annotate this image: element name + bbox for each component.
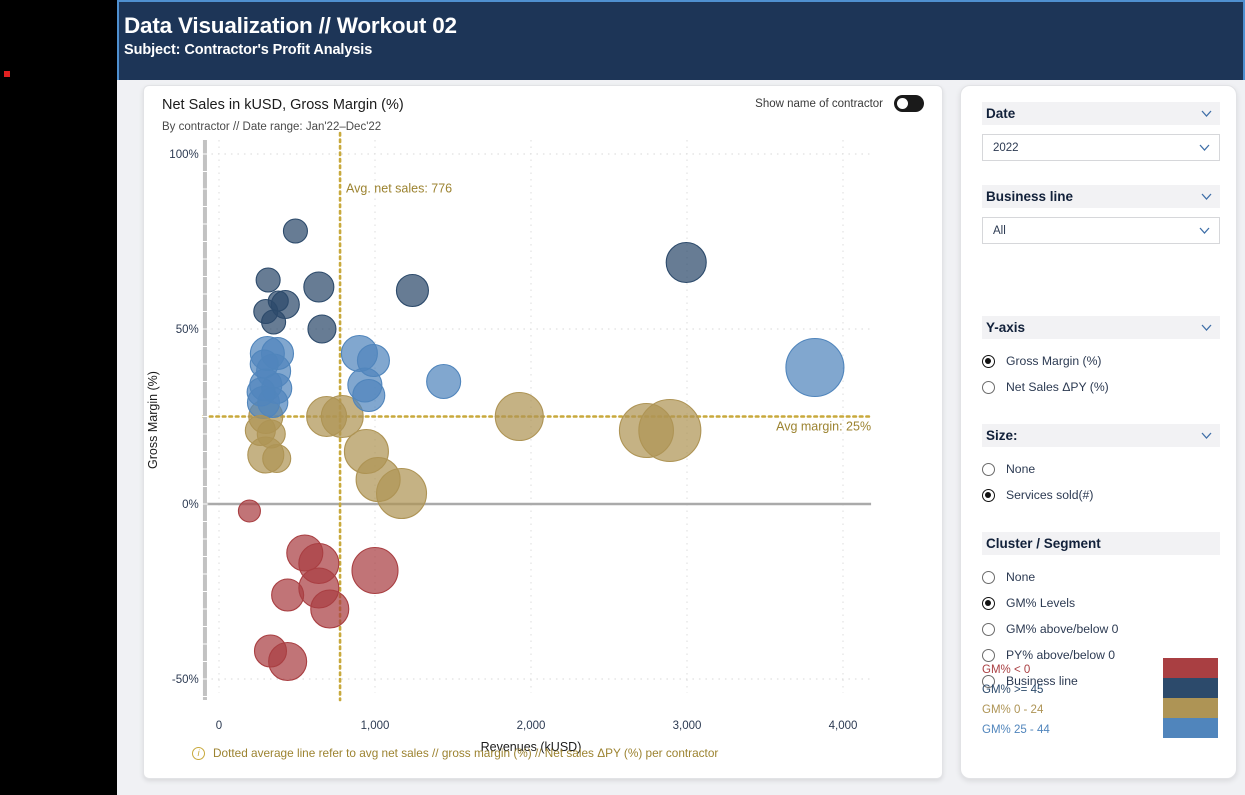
bubble-point[interactable] — [427, 365, 461, 399]
bubble-point[interactable] — [353, 380, 385, 412]
date-section-label: Date — [986, 106, 1015, 121]
chart-footnote-text: Dotted average line refer to avg net sal… — [213, 746, 718, 760]
bubble-point[interactable] — [308, 315, 336, 343]
radio-icon[interactable] — [982, 381, 995, 394]
bubble-point[interactable] — [238, 500, 260, 522]
bubble-point[interactable] — [263, 445, 291, 473]
bubble-point[interactable] — [666, 243, 706, 283]
business-line-dropdown[interactable]: All — [982, 217, 1220, 244]
y-axis-option-label: Net Sales ΔPY (%) — [1006, 380, 1109, 394]
screen-root: Data Visualization // Workout 02 Subject… — [0, 0, 1245, 795]
application-window: Data Visualization // Workout 02 Subject… — [117, 0, 1245, 795]
chart-footnote: i Dotted average line refer to avg net s… — [192, 746, 718, 760]
chart-card: Net Sales in kUSD, Gross Margin (%) By c… — [143, 85, 943, 779]
avg-net-sales-annotation: Avg. net sales: 776 — [346, 182, 452, 196]
bubble-point[interactable] — [254, 635, 286, 667]
page-title: Data Visualization // Workout 02 — [124, 12, 1243, 40]
bubble-point[interactable] — [283, 219, 307, 243]
radio-icon[interactable] — [982, 489, 995, 502]
y-axis-tick-label: 100% — [169, 149, 198, 161]
bubble-point[interactable] — [272, 579, 304, 611]
cluster-option-none[interactable]: None — [982, 564, 1220, 590]
scatter-plot-svg[interactable]: -50%0%50%100%01,0002,0003,0004,000Revenu… — [144, 86, 944, 780]
red-marker-dot — [4, 71, 10, 77]
size-option-label: Services sold(#) — [1006, 488, 1093, 502]
bubble-point[interactable] — [268, 291, 288, 311]
radio-icon[interactable] — [982, 571, 995, 584]
page-subtitle: Subject: Contractor's Profit Analysis — [124, 40, 1243, 60]
x-axis-tick-label: 1,000 — [361, 720, 390, 732]
cluster-option-label: GM% above/below 0 — [1006, 622, 1118, 636]
bubble-point[interactable] — [495, 393, 543, 441]
scatter-plot[interactable]: -50%0%50%100%01,0002,0003,0004,000Revenu… — [144, 86, 944, 780]
legend-swatch-list — [1163, 658, 1218, 738]
bubble-point[interactable] — [304, 272, 334, 302]
controls-panel: Date 2022 Business line All — [960, 85, 1237, 779]
bubble-point[interactable] — [307, 397, 347, 437]
cluster-section-header: Cluster / Segment — [982, 532, 1220, 555]
cluster-option-gm-above-below-0[interactable]: GM% above/below 0 — [982, 616, 1220, 642]
y-axis-tick-label: -50% — [172, 674, 199, 686]
size-option-label: None — [1006, 462, 1035, 476]
radio-icon[interactable] — [982, 355, 995, 368]
date-dropdown-value: 2022 — [993, 142, 1019, 154]
y-axis-section-label: Y-axis — [986, 320, 1025, 335]
color-legend: GM% < 0 GM% >= 45 GM% 0 - 24 GM% 25 - 44 — [982, 658, 1218, 740]
panel-spacer — [982, 292, 1220, 316]
info-icon: i — [192, 747, 205, 760]
legend-swatch-gm-below-0 — [1163, 658, 1218, 678]
bubble-point[interactable] — [250, 350, 278, 378]
radio-icon[interactable] — [982, 463, 995, 476]
bubble-point[interactable] — [257, 420, 285, 448]
y-axis-tick-label: 0% — [182, 499, 199, 511]
radio-icon[interactable] — [982, 597, 995, 610]
chevron-down-icon[interactable] — [1201, 110, 1212, 117]
y-axis-tick-label: 50% — [176, 324, 199, 336]
bubble-point[interactable] — [262, 310, 286, 334]
size-section-header[interactable]: Size: — [982, 424, 1220, 447]
radio-icon[interactable] — [982, 623, 995, 636]
x-axis-tick-label: 4,000 — [829, 720, 858, 732]
legend-label: GM% 25 - 44 — [982, 720, 1163, 740]
app-header: Data Visualization // Workout 02 Subject… — [117, 0, 1245, 80]
size-option-none[interactable]: None — [982, 456, 1220, 482]
bubble-point[interactable] — [356, 458, 400, 502]
legend-label-list: GM% < 0 GM% >= 45 GM% 0 - 24 GM% 25 - 44 — [982, 658, 1163, 740]
y-axis-title: Gross Margin (%) — [146, 371, 160, 469]
y-axis-option-net-sales-dpy[interactable]: Net Sales ΔPY (%) — [982, 374, 1220, 400]
size-option-services-sold[interactable]: Services sold(#) — [982, 482, 1220, 508]
chevron-down-icon[interactable] — [1201, 432, 1212, 439]
date-section-header[interactable]: Date — [982, 102, 1220, 125]
cluster-section-label: Cluster / Segment — [986, 536, 1101, 551]
bubble-point[interactable] — [357, 345, 389, 377]
legend-swatch-gm-45-plus — [1163, 678, 1218, 698]
x-axis-tick-label: 2,000 — [517, 720, 546, 732]
chevron-down-icon[interactable] — [1199, 227, 1210, 234]
panel-spacer — [982, 268, 1220, 292]
legend-swatch-gm-0-24 — [1163, 698, 1218, 718]
business-line-dropdown-value: All — [993, 225, 1006, 237]
bubble-point[interactable] — [256, 268, 280, 292]
bubble-point[interactable] — [619, 404, 673, 458]
bubble-point[interactable] — [247, 378, 275, 406]
legend-swatch-gm-25-44 — [1163, 718, 1218, 738]
business-line-section-label: Business line — [986, 189, 1073, 204]
legend-label: GM% >= 45 — [982, 680, 1163, 700]
y-axis-option-gross-margin[interactable]: Gross Margin (%) — [982, 348, 1220, 374]
cluster-option-label: None — [1006, 570, 1035, 584]
business-line-section-header[interactable]: Business line — [982, 185, 1220, 208]
x-axis-tick-label: 0 — [216, 720, 222, 732]
size-section-label: Size: — [986, 428, 1018, 443]
bubble-point[interactable] — [311, 590, 349, 628]
y-axis-option-label: Gross Margin (%) — [1006, 354, 1101, 368]
bubble-point[interactable] — [352, 548, 398, 594]
avg-margin-annotation: Avg margin: 25% — [776, 420, 871, 434]
cluster-option-gm-levels[interactable]: GM% Levels — [982, 590, 1220, 616]
date-dropdown[interactable]: 2022 — [982, 134, 1220, 161]
cluster-option-label: GM% Levels — [1006, 596, 1075, 610]
y-axis-section-header[interactable]: Y-axis — [982, 316, 1220, 339]
chevron-down-icon[interactable] — [1201, 193, 1212, 200]
legend-label: GM% 0 - 24 — [982, 700, 1163, 720]
bubble-point[interactable] — [396, 275, 428, 307]
chevron-down-icon[interactable] — [1199, 144, 1210, 151]
panel-spacer — [982, 508, 1220, 532]
chevron-down-icon[interactable] — [1201, 324, 1212, 331]
x-axis-tick-label: 3,000 — [673, 720, 702, 732]
panel-spacer — [982, 400, 1220, 424]
bubble-point[interactable] — [287, 535, 323, 571]
legend-label: GM% < 0 — [982, 660, 1163, 680]
bubble-point[interactable] — [786, 339, 844, 397]
